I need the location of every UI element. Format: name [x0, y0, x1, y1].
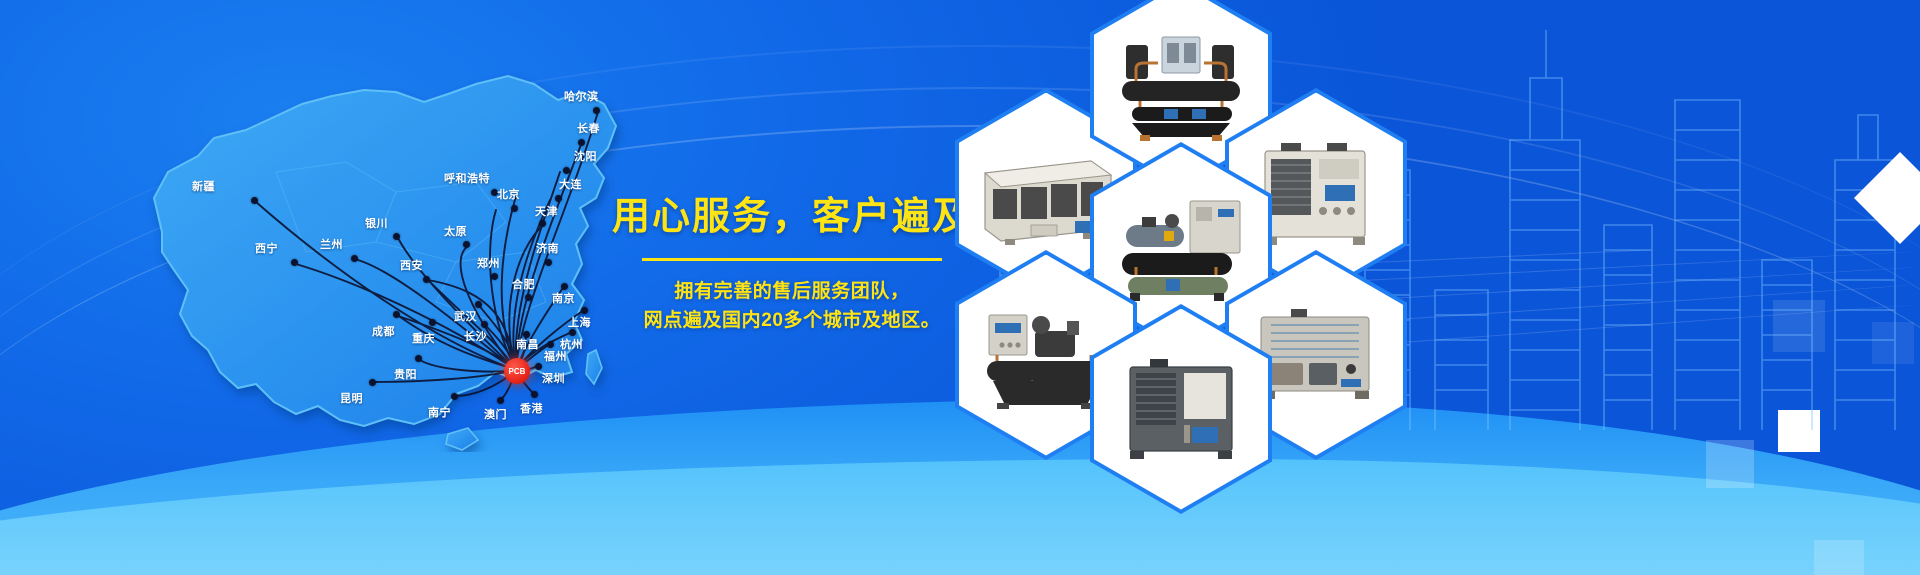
city-dot[interactable]	[481, 321, 488, 328]
city-dot[interactable]	[475, 301, 482, 308]
product-hexagon-grid	[955, 0, 1535, 575]
city-label-wuhan: 武汉	[454, 308, 477, 324]
banner-headline: 用心服务，客户遍及全国	[612, 196, 972, 240]
city-dot[interactable]	[511, 205, 518, 212]
city-dot[interactable]	[463, 241, 470, 248]
city-label-nanning: 南宁	[428, 404, 451, 420]
city-label-fuzhou: 福州	[544, 348, 567, 364]
city-label-xian: 西安	[400, 257, 423, 273]
city-label-nanchang: 南昌	[516, 336, 539, 352]
city-dot[interactable]	[563, 167, 570, 174]
city-label-tianjin: 天津	[535, 203, 558, 219]
decor-square-5	[1814, 540, 1864, 575]
city-label-huhehaote: 呼和浩特	[444, 170, 490, 186]
city-dot[interactable]	[393, 233, 400, 240]
city-dot[interactable]	[539, 220, 546, 227]
city-dot[interactable]	[369, 379, 376, 386]
city-dot[interactable]	[569, 329, 576, 336]
city-dot[interactable]	[535, 363, 542, 370]
city-dot[interactable]	[531, 391, 538, 398]
condensing-unit-icon	[1106, 187, 1256, 307]
banner-subcopy-line1: 拥有完善的售后服务团队，	[612, 277, 972, 306]
city-label-hongkong: 香港	[520, 400, 543, 416]
city-label-kunming: 昆明	[340, 390, 363, 406]
city-label-shenyang: 沈阳	[574, 148, 597, 164]
city-label-changsha: 长沙	[464, 328, 487, 344]
city-label-jinan: 济南	[536, 240, 559, 256]
city-dot[interactable]	[393, 311, 400, 318]
city-dot[interactable]	[547, 341, 554, 348]
decor-square-1	[1773, 300, 1825, 352]
city-dot[interactable]	[525, 294, 532, 301]
city-dot[interactable]	[561, 283, 568, 290]
city-dot[interactable]	[593, 107, 600, 114]
headline-divider	[642, 258, 942, 261]
city-label-xining: 西宁	[255, 240, 278, 256]
city-label-yinchuan: 银川	[365, 215, 388, 231]
city-label-changchun: 长春	[577, 120, 600, 136]
city-dot[interactable]	[497, 397, 504, 404]
city-label-chongqing: 重庆	[412, 330, 435, 346]
city-label-hefei: 合肥	[512, 276, 535, 292]
city-dot[interactable]	[423, 276, 430, 283]
city-dot[interactable]	[291, 259, 298, 266]
city-dot[interactable]	[251, 197, 258, 204]
city-dot[interactable]	[451, 393, 458, 400]
banner-copy-block: 用心服务，客户遍及全国 拥有完善的售后服务团队， 网点遍及国内20多个城市及地区…	[612, 196, 972, 336]
decor-square-4	[1706, 440, 1754, 488]
city-dot[interactable]	[415, 355, 422, 362]
city-dot[interactable]	[491, 273, 498, 280]
decor-square-2	[1872, 322, 1914, 364]
city-label-lanzhou: 兰州	[320, 236, 343, 252]
city-label-taiyuan: 太原	[444, 223, 467, 239]
city-label-shenzhen: 深圳	[542, 370, 565, 386]
city-label-guiyang: 贵阳	[394, 366, 417, 382]
city-label-xinjiang: 新疆	[192, 178, 215, 194]
city-label-chengdu: 成都	[372, 323, 395, 339]
city-dot[interactable]	[578, 139, 585, 146]
promo-banner: 新疆 哈尔滨 长春 沈阳 呼和浩特 北京 大连 天津 银川 太原 兰州 西宁	[0, 0, 1920, 575]
city-dot[interactable]	[555, 195, 562, 202]
banner-subcopy-line2: 网点遍及国内20多个城市及地区。	[612, 306, 972, 335]
air-cooled-unit-icon	[1106, 349, 1256, 469]
city-label-macau: 澳门	[484, 406, 507, 422]
city-label-dalian: 大连	[559, 176, 582, 192]
city-label-haerbin: 哈尔滨	[564, 88, 599, 104]
city-label-shanghai: 上海	[568, 314, 591, 330]
map-hub-marker[interactable]: PCB	[504, 358, 530, 384]
decor-square-3	[1778, 410, 1820, 452]
water-cooled-screw-icon	[1106, 25, 1256, 145]
city-label-beijing: 北京	[497, 186, 520, 202]
city-dot[interactable]	[351, 255, 358, 262]
city-label-zhengzhou: 郑州	[477, 255, 500, 271]
city-dot[interactable]	[429, 319, 436, 326]
city-dot[interactable]	[545, 259, 552, 266]
city-dot[interactable]	[581, 307, 588, 314]
city-label-nanjing: 南京	[552, 290, 575, 306]
